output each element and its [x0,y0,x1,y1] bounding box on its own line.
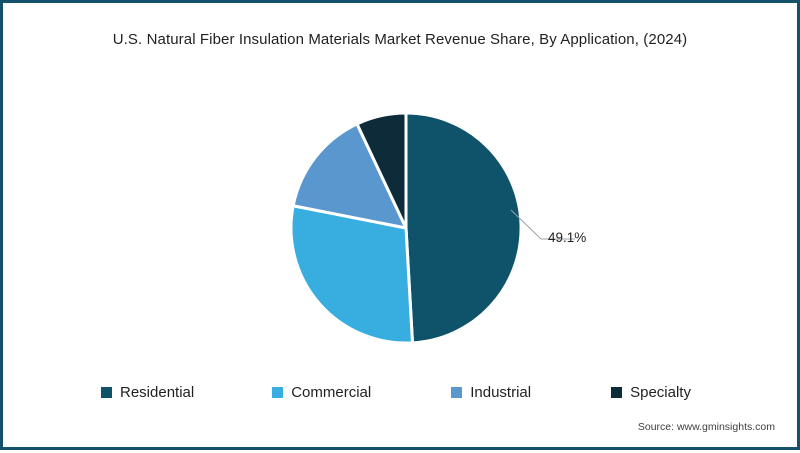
legend-item-residential[interactable]: Residential [101,384,194,401]
legend-label-commercial: Commercial [291,384,371,401]
legend-swatch-commercial-icon [272,387,283,398]
legend-item-industrial[interactable]: Industrial [451,384,531,401]
legend-swatch-specialty-icon [611,387,622,398]
source-attribution: Source: www.gminsights.com [638,421,775,433]
legend-swatch-residential-icon [101,387,112,398]
page-title: U.S. Natural Fiber Insulation Materials … [3,31,797,48]
chart-container: U.S. Natural Fiber Insulation Materials … [0,0,800,450]
pie-slice-industrial[interactable] [293,124,406,228]
legend-label-residential: Residential [120,384,194,401]
pie-slice-residential[interactable] [406,113,521,343]
legend-item-commercial[interactable]: Commercial [272,384,371,401]
pie-slice-specialty[interactable] [357,113,406,228]
legend-label-specialty: Specialty [630,384,691,401]
pie-slices [291,113,521,343]
pie-data-label-residential: 49.1% [548,230,586,245]
legend-item-specialty[interactable]: Specialty [611,384,691,401]
pie-slice-commercial[interactable] [291,206,413,343]
legend-label-industrial: Industrial [470,384,531,401]
legend-swatch-industrial-icon [451,387,462,398]
legend: Residential Commercial Industrial Specia… [63,379,757,405]
